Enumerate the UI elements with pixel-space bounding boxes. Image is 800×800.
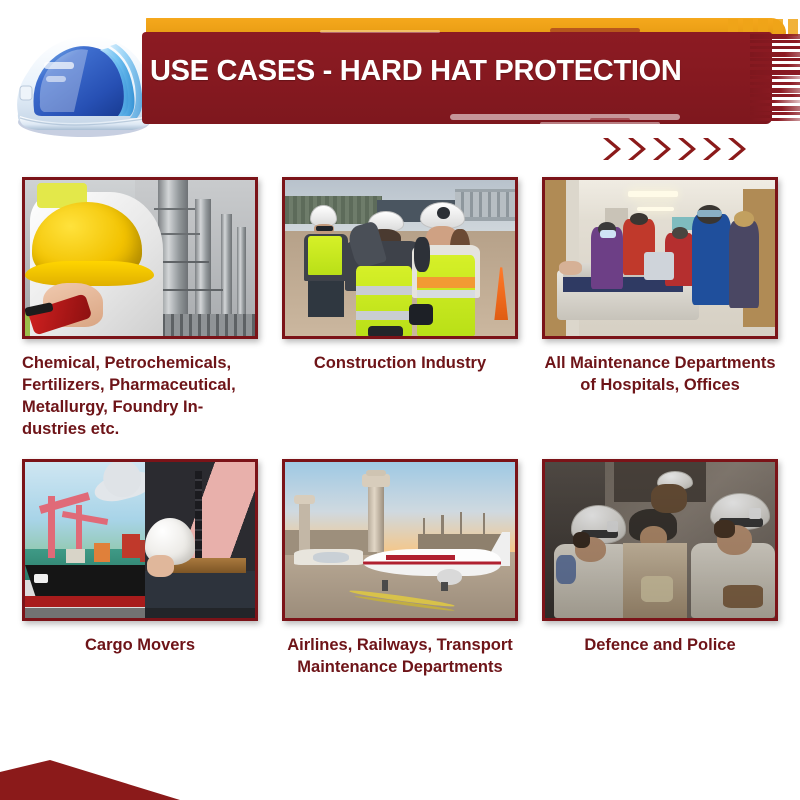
- page-title: USE CASES - HARD HAT PROTECTION: [150, 55, 710, 88]
- use-case-caption: Construction Industry: [282, 353, 518, 375]
- use-case-caption: Defence and Police: [542, 635, 778, 657]
- use-case-image-chemical-petrochemicals[interactable]: [22, 177, 258, 339]
- chevron-right-icon: [700, 136, 722, 162]
- chevron-right-icon: [600, 136, 622, 162]
- banner-texture: [540, 122, 660, 126]
- use-case-item-hospital-maintenance: All Maintenance Departments of Hospitals…: [530, 170, 790, 441]
- chevron-right-icon: [675, 136, 697, 162]
- use-case-item-cargo-movers: Cargo Movers: [10, 441, 270, 679]
- use-case-image-construction-industry[interactable]: [282, 177, 518, 339]
- banner-texture: [590, 118, 630, 122]
- banner-texture: [450, 114, 680, 120]
- use-case-item-construction-industry: Construction Industry: [270, 170, 530, 441]
- chevron-right-icon: [650, 136, 672, 162]
- banner-texture: [550, 28, 640, 33]
- poster-page: /*streaks generated below*/ USE CASES - …: [0, 0, 800, 800]
- use-case-caption: Airlines, Railways, Transport Maintenanc…: [282, 635, 518, 679]
- bottom-corner-wedge: [0, 758, 180, 800]
- banner-frayed-edge: /*streaks generated below*/: [750, 30, 800, 130]
- use-case-image-airlines-railways-transport[interactable]: [282, 459, 518, 621]
- use-case-caption: Cargo Movers: [22, 635, 258, 657]
- use-case-image-defence-and-police[interactable]: [542, 459, 778, 621]
- use-case-image-cargo-movers[interactable]: [22, 459, 258, 621]
- banner-texture: [320, 30, 440, 33]
- use-case-item-chemical-petrochemicals: Chemical, Petrochemicals, Fertilizers, P…: [10, 170, 270, 441]
- use-case-caption: All Maintenance Departments of Hospitals…: [542, 353, 778, 397]
- use-case-caption: Chemical, Petrochemicals, Fertilizers, P…: [22, 353, 258, 441]
- use-case-grid: Chemical, Petrochemicals, Fertilizers, P…: [0, 170, 800, 679]
- use-case-item-defence-and-police: Defence and Police: [530, 441, 790, 679]
- header: /*streaks generated below*/ USE CASES - …: [0, 0, 800, 170]
- use-case-image-hospital-maintenance[interactable]: [542, 177, 778, 339]
- chevron-right-icon: [725, 136, 747, 162]
- use-case-item-airlines-railways-transport: Airlines, Railways, Transport Maintenanc…: [270, 441, 530, 679]
- chevron-arrow-group: [600, 136, 747, 162]
- chevron-right-icon: [625, 136, 647, 162]
